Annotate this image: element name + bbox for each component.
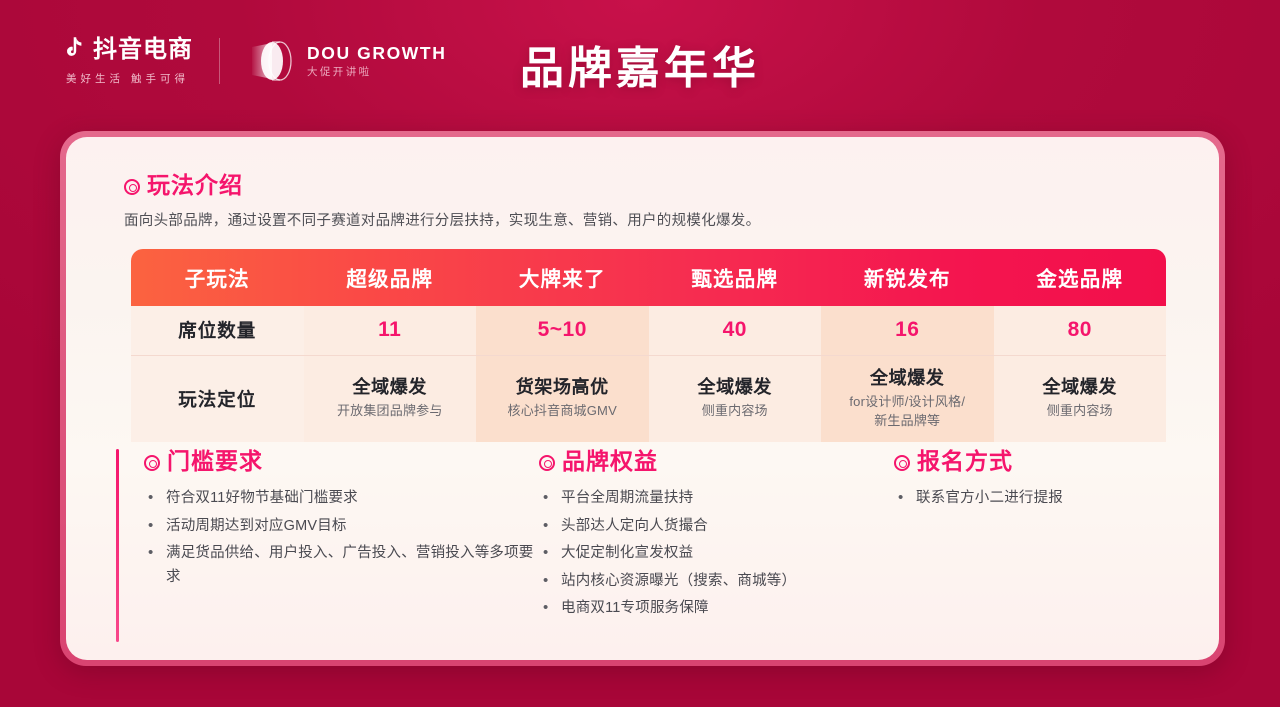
page-title: 品牌嘉年华: [0, 32, 1280, 96]
table-head: 子玩法 超级品牌 大牌来了 甄选品牌 新锐发布 金选品牌: [131, 249, 1166, 306]
table-cell: 全域爆发 侧重内容场: [649, 355, 822, 442]
list-item: 大促定制化宣发权益: [539, 542, 894, 565]
cell-value: 40: [655, 318, 816, 342]
cell-subvalue: 侧重内容场: [1000, 402, 1161, 421]
table-cell: 80: [994, 306, 1167, 355]
table-header-cell: 甄选品牌: [649, 249, 822, 306]
table-cell: 5~10: [476, 306, 649, 355]
table-cell: 16: [821, 306, 994, 355]
table-header-cell: 超级品牌: [304, 249, 477, 306]
list-item: 联系官方小二进行提报: [894, 487, 1204, 510]
playbook-table-wrapper: 子玩法 超级品牌 大牌来了 甄选品牌 新锐发布 金选品牌 席位数量: [131, 249, 1166, 442]
table-cell: 全域爆发 侧重内容场: [994, 355, 1167, 442]
row-label: 席位数量: [178, 320, 256, 341]
cell-subvalue: 核心抖音商城GMV: [482, 402, 643, 421]
table-cell: 全域爆发 开放集团品牌参与: [304, 355, 477, 442]
cell-value: 全域爆发: [655, 376, 816, 399]
section-heading-label: 报名方式: [917, 449, 1013, 474]
cell-value: 5~10: [482, 318, 643, 342]
row-label-cell: 玩法定位: [131, 355, 304, 442]
row-label-cell: 席位数量: [131, 306, 304, 355]
table-header-cell: 大牌来了: [476, 249, 649, 306]
content-card-frame: 玩法介绍 面向头部品牌，通过设置不同子赛道对品牌进行分层扶持，实现生意、营销、用…: [60, 131, 1225, 666]
intro-description: 面向头部品牌，通过设置不同子赛道对品牌进行分层扶持，实现生意、营销、用户的规模化…: [124, 209, 760, 230]
section-heading: 报名方式: [894, 449, 1204, 474]
list-item: 站内核心资源曝光（搜索、商城等）: [539, 570, 894, 593]
cell-value: 全域爆发: [310, 376, 471, 399]
table-row: 玩法定位 全域爆发 开放集团品牌参与 货架场高优 核心抖音商城GMV 全域爆发: [131, 355, 1166, 442]
cell-value: 全域爆发: [1000, 376, 1161, 399]
bullet-list: 平台全周期流量扶持 头部达人定向人货撮合 大促定制化宣发权益 站内核心资源曝光（…: [539, 487, 894, 620]
intro-heading-label: 玩法介绍: [147, 173, 243, 198]
bullet-list: 联系官方小二进行提报: [894, 487, 1204, 510]
ring-bullet-icon: [539, 455, 555, 471]
table-cell: 全域爆发 for设计师/设计风格/新生品牌等: [821, 355, 994, 442]
table-body: 席位数量 11 5~10 40 16: [131, 306, 1166, 442]
section-heading-label: 品牌权益: [562, 449, 658, 474]
section-benefits: 品牌权益 平台全周期流量扶持 头部达人定向人货撮合 大促定制化宣发权益 站内核心…: [539, 449, 894, 642]
table-header-cell: 新锐发布: [821, 249, 994, 306]
intro-block: 玩法介绍 面向头部品牌，通过设置不同子赛道对品牌进行分层扶持，实现生意、营销、用…: [124, 173, 760, 230]
table-row: 席位数量 11 5~10 40 16: [131, 306, 1166, 355]
table-header-cell: 金选品牌: [994, 249, 1167, 306]
content-card: 玩法介绍 面向头部品牌，通过设置不同子赛道对品牌进行分层扶持，实现生意、营销、用…: [66, 137, 1219, 660]
cell-value: 货架场高优: [482, 376, 643, 399]
page-header: 抖音电商 美好生活 触手可得: [0, 0, 1280, 122]
table-cell: 40: [649, 306, 822, 355]
list-item: 满足货品供给、用户投入、广告投入、营销投入等多项要求: [144, 542, 539, 589]
cell-value: 80: [1000, 318, 1161, 342]
cell-subvalue: 侧重内容场: [655, 402, 816, 421]
list-item: 符合双11好物节基础门槛要求: [144, 487, 539, 510]
row-label: 玩法定位: [178, 389, 256, 410]
cell-subvalue: 开放集团品牌参与: [310, 402, 471, 421]
ring-bullet-icon: [144, 455, 160, 471]
bullet-list: 符合双11好物节基础门槛要求 活动周期达到对应GMV目标 满足货品供给、用户投入…: [144, 487, 539, 589]
table-header-row: 子玩法 超级品牌 大牌来了 甄选品牌 新锐发布 金选品牌: [131, 249, 1166, 306]
cell-value: 16: [827, 318, 988, 342]
playbook-table: 子玩法 超级品牌 大牌来了 甄选品牌 新锐发布 金选品牌 席位数量: [131, 249, 1166, 442]
cell-subvalue: for设计师/设计风格/新生品牌等: [827, 393, 988, 431]
table-header-cell: 子玩法: [131, 249, 304, 306]
cell-value: 11: [310, 318, 471, 342]
table-cell: 货架场高优 核心抖音商城GMV: [476, 355, 649, 442]
table-cell: 11: [304, 306, 477, 355]
section-requirements: 门槛要求 符合双11好物节基础门槛要求 活动周期达到对应GMV目标 满足货品供给…: [144, 449, 539, 642]
section-signup: 报名方式 联系官方小二进行提报: [894, 449, 1204, 642]
intro-heading: 玩法介绍: [124, 173, 760, 198]
cell-value: 全域爆发: [827, 367, 988, 390]
ring-bullet-icon: [894, 455, 910, 471]
list-item: 电商双11专项服务保障: [539, 597, 894, 620]
section-heading: 门槛要求: [144, 449, 539, 474]
section-heading: 品牌权益: [539, 449, 894, 474]
bottom-sections: 门槛要求 符合双11好物节基础门槛要求 活动周期达到对应GMV目标 满足货品供给…: [116, 449, 1193, 642]
list-item: 活动周期达到对应GMV目标: [144, 515, 539, 538]
accent-bar: [116, 449, 119, 642]
ring-bullet-icon: [124, 179, 140, 195]
list-item: 平台全周期流量扶持: [539, 487, 894, 510]
list-item: 头部达人定向人货撮合: [539, 515, 894, 538]
section-heading-label: 门槛要求: [167, 449, 263, 474]
